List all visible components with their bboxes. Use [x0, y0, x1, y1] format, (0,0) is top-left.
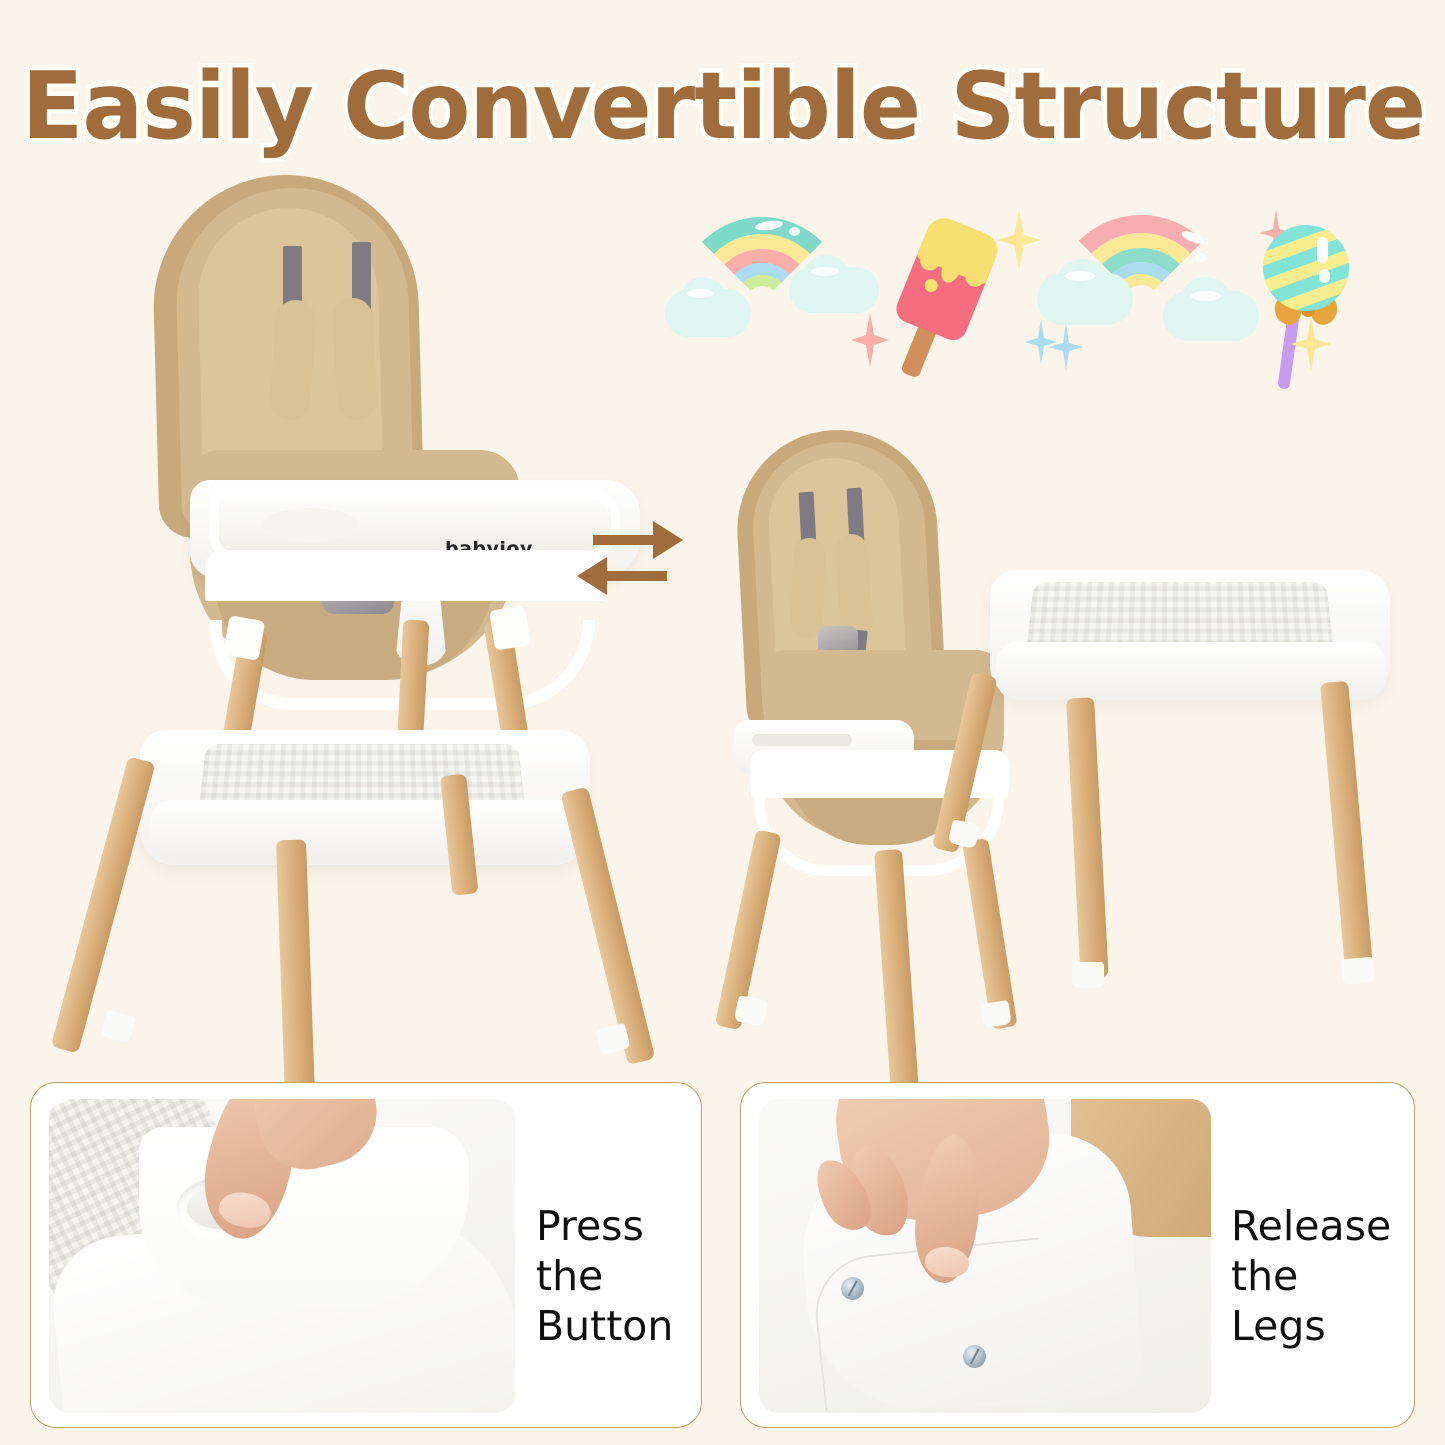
leg-lower-back-right — [560, 787, 655, 1065]
table-leg-center-left — [1066, 697, 1109, 978]
convertible-table — [990, 570, 1400, 1050]
instruction-cards: Press the Button Release the Legs — [0, 1082, 1445, 1445]
harness-shoulder-pad-right — [332, 297, 378, 421]
rainbow-right-icon — [1053, 215, 1253, 333]
rainbow2-cloud-left-puff — [1057, 259, 1107, 303]
page-title: Easily Convertible Structure — [22, 52, 1424, 160]
sparkle-pink-icon — [851, 313, 889, 367]
rainbow2-cloud-right-highlight — [1191, 291, 1221, 301]
leg-lower-front-left — [51, 756, 156, 1053]
rainbow-arc-highlight-2 — [789, 227, 800, 236]
leg-cap-upper-right — [489, 605, 531, 650]
product-infographic-page: Easily Convertible Structure ba — [0, 0, 1445, 1445]
rainbow-cloud-right-puff — [803, 255, 849, 297]
press-button-label: Press the Button — [536, 1201, 701, 1351]
release-legs-label: Release the Legs — [1231, 1201, 1414, 1351]
rainbow-cloud-right-highlight — [811, 267, 839, 276]
decorative-sticker-cluster — [655, 205, 1445, 405]
swap-arrows-icon — [575, 515, 685, 610]
sparkle-blue-2-icon — [1049, 323, 1083, 371]
low-chair-configuration — [700, 420, 1040, 1060]
rainbow2-arc-highlight-2 — [1195, 253, 1207, 262]
screw-left — [841, 1277, 864, 1300]
lollipop-highlight-1 — [1317, 237, 1328, 263]
low-harness-pad-left — [790, 537, 825, 638]
rainbow-left-icon — [677, 217, 867, 327]
rainbow-cloud-left-highlight — [687, 289, 713, 298]
lollipop-highlight-2 — [1319, 269, 1330, 283]
rainbow2-cloud-left-highlight — [1065, 271, 1095, 281]
screw-bottom — [963, 1345, 986, 1368]
sparkle-yellow-2-icon — [1291, 317, 1331, 371]
table-leg-right — [1320, 681, 1374, 982]
step-card-press-button: Press the Button — [30, 1082, 702, 1428]
sparkle-yellow-icon — [997, 211, 1041, 269]
lollipop-ball — [1263, 225, 1349, 311]
high-chair-configuration: babyjoy — [40, 150, 660, 1050]
press-button-photo — [49, 1099, 515, 1413]
table-leg-tip-right — [1341, 957, 1375, 986]
release-legs-label-line1: Release the — [1231, 1201, 1414, 1301]
footrest-front-rail — [150, 800, 580, 862]
leg-cap-upper-left — [223, 615, 265, 661]
release-legs-label-line2: Legs — [1231, 1301, 1414, 1351]
convertible-swap-arrows — [575, 515, 685, 610]
press-button-label-line2: Button — [536, 1301, 701, 1351]
press-button-label-line1: Press the — [536, 1201, 701, 1301]
leg-tip-front-left — [100, 1010, 136, 1044]
hero-illustration-area: babyjoy — [0, 150, 1445, 1060]
table-leg-tip-center-left — [1072, 962, 1104, 988]
step-card-release-legs: Release the Legs — [740, 1082, 1415, 1428]
tray-cup-recess — [262, 508, 358, 542]
harness-shoulder-pad-left — [269, 299, 317, 421]
low-chair-armrest-groove — [752, 734, 852, 746]
release-legs-photo — [759, 1099, 1211, 1413]
